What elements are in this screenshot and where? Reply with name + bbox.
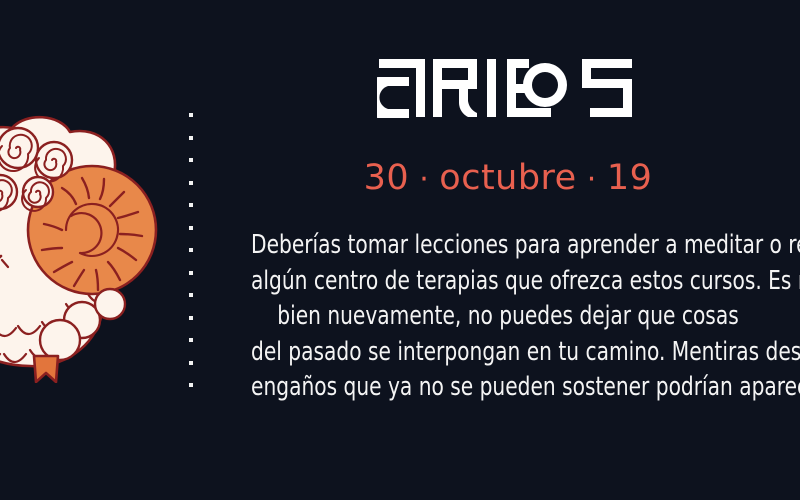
page-title <box>216 52 800 124</box>
divider-dot <box>189 181 193 185</box>
divider-dot <box>189 136 193 140</box>
divider-dot <box>189 203 193 207</box>
aries-ram-illustration <box>0 108 172 383</box>
horoscope-line: del pasado se interpongan en tu camino. … <box>251 335 765 371</box>
divider-dot <box>189 248 193 252</box>
aries-wordmark <box>377 57 639 119</box>
horoscope-line: bien nuevamente, no puedes dejar que cos… <box>251 299 765 335</box>
divider-dot <box>189 361 193 365</box>
divider-dot <box>189 113 193 117</box>
date-month: octubre <box>439 158 576 198</box>
horoscope-line: Deberías tomar lecciones para aprender a… <box>251 228 765 264</box>
divider-dot <box>189 338 193 342</box>
date-line: 30 · octubre · 19 <box>216 158 800 198</box>
divider-dot <box>189 383 193 387</box>
date-separator: · <box>409 162 439 197</box>
dotted-divider <box>188 113 193 387</box>
date-separator: · <box>577 162 607 197</box>
horoscope-line: algún centro de terapias que ofrezca est… <box>251 264 765 300</box>
divider-dot <box>189 226 193 230</box>
ram-graphic <box>0 108 172 383</box>
ram-hoof <box>34 356 58 382</box>
horoscope-text: Deberías tomar lecciones para aprender a… <box>216 228 800 406</box>
divider-dot <box>189 158 193 162</box>
date-day: 30 <box>364 158 410 198</box>
horoscope-line: engaños que ya no se pueden sostener pod… <box>251 370 765 406</box>
date-year: 19 <box>607 158 653 198</box>
divider-dot <box>189 316 193 320</box>
divider-dot <box>189 271 193 275</box>
divider-dot <box>189 293 193 297</box>
horoscope-card: 30 · octubre · 19 Deberías tomar leccion… <box>0 0 800 500</box>
content-column: 30 · octubre · 19 Deberías tomar leccion… <box>216 0 800 500</box>
